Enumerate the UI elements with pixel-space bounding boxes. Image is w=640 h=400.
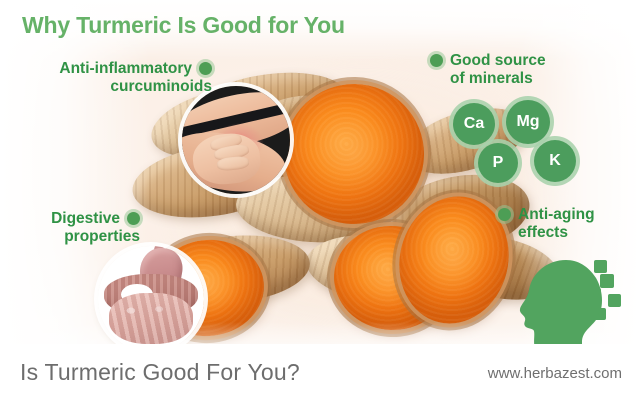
bullet-dot-icon	[199, 62, 212, 75]
mineral-bubble-mg: Mg	[506, 100, 550, 144]
footer-url: www.herbazest.com	[488, 365, 622, 382]
callout-line: Anti-aging	[498, 206, 640, 224]
mineral-symbol: Mg	[516, 113, 539, 131]
bullet-dot-icon	[430, 54, 443, 67]
callout-line: Digestive	[10, 210, 140, 228]
small-intestine-shape	[109, 293, 194, 344]
callout-line: properties	[10, 228, 140, 246]
mineral-bubble-p: P	[478, 143, 518, 183]
mineral-bubble-ca: Ca	[453, 103, 495, 145]
footer-caption: Is Turmeric Good For You?	[20, 359, 300, 386]
joint-pain-photo	[182, 86, 290, 194]
callout-line: of minerals	[430, 70, 610, 88]
callout-line: Anti-inflammatory	[12, 60, 212, 78]
mineral-symbol: K	[549, 152, 561, 170]
callout-line: curcuminoids	[12, 78, 212, 96]
digestive-photo-body	[98, 246, 204, 352]
mineral-symbol: P	[493, 154, 504, 172]
bullet-dot-icon	[498, 208, 511, 221]
bullet-dot-icon	[127, 212, 140, 225]
callout-anti-inflammatory: Anti-inflammatory curcuminoids	[12, 60, 212, 96]
digestive-system-photo	[98, 246, 204, 352]
joint-photo-body	[182, 86, 290, 194]
page-title: Why Turmeric Is Good for You	[22, 12, 345, 39]
head-puzzle-icon	[508, 252, 626, 354]
callout-line: effects	[498, 224, 640, 242]
callout-digestive-properties: Digestive properties	[10, 210, 140, 246]
infographic-canvas: Why Turmeric Is Good for You Anti-inflam…	[0, 0, 640, 400]
mineral-symbol: Ca	[464, 115, 484, 133]
callout-anti-aging-effects: Anti-aging effects	[498, 206, 640, 242]
mineral-bubble-k: K	[534, 140, 576, 182]
callout-good-source-of-minerals: Good source of minerals	[430, 52, 610, 88]
callout-line: Good source	[430, 52, 610, 70]
